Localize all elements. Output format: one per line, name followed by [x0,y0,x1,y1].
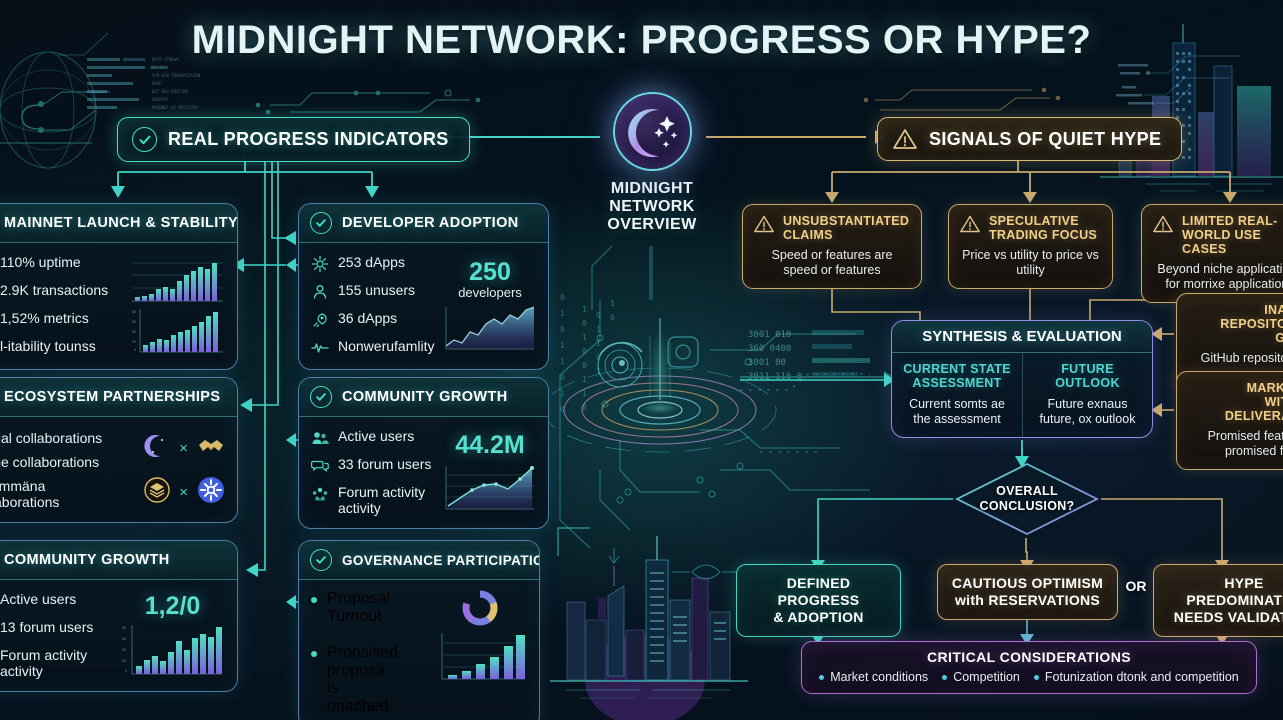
svg-text:1: 1 [582,375,587,384]
chat-icon [311,457,329,475]
metric-text: Pronsised proposa is onached [327,644,399,716]
conclusion-line-2: NEEDS VALIDATION [1166,609,1283,626]
svg-text:1: 1 [560,309,565,318]
metric-text: 2.9K transactions [0,282,108,298]
header-right-label: SIGNALS OF QUIET HYPE [929,129,1161,150]
card-description: Beyond niche applications for morrixe ap… [1152,262,1283,292]
bullet-icon [311,597,317,603]
conclusion-line-1: CAUTIOUS OPTIMISM [950,575,1105,592]
hype-card-marketing-without-deliverables[interactable]: MARKETING WITHOUT DELIVERABLES Promised … [1176,371,1283,470]
card-body: Actual collaborations Niche collaboratio… [0,417,237,522]
brand-line-2: NETWORK [592,198,712,216]
card-title: SPECULATIVE TRADING FOCUS [989,214,1102,242]
card-title: ECOSYSTEM PARTNERSHIPS [4,389,220,405]
card-header: ECOSYSTEM PARTNERSHIPS [0,378,237,417]
svg-text:1: 1 [560,341,565,350]
card-chart-block [432,590,527,716]
warning-triangle-icon [892,127,918,151]
decision-diamond-overall-conclusion[interactable]: OVERALL CONCLUSION? [955,462,1099,536]
person-icon [311,283,329,301]
svg-text:20: 20 [122,659,126,663]
card-chart-block: 250 developers [444,254,536,357]
users-icon [311,429,329,447]
svg-text:0: 0 [125,669,127,673]
partnership-logos: × × [144,430,225,510]
metric-text: Coommäna collaborations [0,478,77,510]
svg-text:1: 1 [596,325,601,334]
conclusion-line-2: & ADOPTION [749,609,888,626]
bullet-icon [942,675,947,680]
metric-text: Nonwerufamlity [338,338,434,354]
page-title: MIDNIGHT NETWORK: PROGRESS OR HYPE? [0,18,1283,63]
decision-label: OVERALL CONCLUSION? [955,462,1099,536]
brand-line-1: MIDNIGHT [592,180,712,198]
times-operator: × [179,484,188,501]
bar-chart-proposals [432,630,527,682]
metric-text: Forum activity activity [0,647,92,679]
binary-rain: 101 001 10 011 01 10 010 110 10 [560,293,615,414]
list-item: Competition [942,670,1020,684]
metric-row: Forum activity activity [311,484,436,516]
metric-row: 2.9K transactions [0,282,122,301]
warning-triangle-icon [1152,214,1174,234]
metric-text: Niche collaborations [0,454,99,470]
metric-text: Actual collaborations [0,430,102,446]
svg-text:MAINNET 01 REGISTRY: MAINNET 01 REGISTRY [152,105,198,110]
top-circuit-left [256,90,481,114]
card-body: Active users 33 forum users Forum activi… [299,417,548,528]
decision-line-2: CONCLUSION? [980,499,1075,514]
partnership-pair: × [144,433,225,464]
bullet-icon [311,651,317,657]
globe-decoration [0,52,110,168]
svg-text:1: 1 [582,333,587,342]
svg-text:1: 1 [582,389,587,398]
svg-text:0: 0 [582,319,587,328]
crescent-moon-stars-icon [613,92,692,171]
metric-text: Active users [0,591,76,607]
svg-text:0: 0 [596,353,601,362]
metric-text: 1,52% metrics [0,310,89,326]
metric-text: Active users [338,428,414,444]
bar-chart-uptime [130,258,225,302]
list-item-label: Competition [953,670,1020,684]
community-icon [311,485,329,503]
conclusion-line-1: HYPE PREDOMINATES [1166,575,1283,609]
hud-readout: 3001 010 360 0400 3001 00 3011 110 0 [740,330,892,382]
card-developer-adoption[interactable]: DEVELOPER ADOPTION 253 dApps 155 unusers [298,203,549,370]
metric-row: Forum activity activity [0,647,112,679]
synthesis-column-current-state: CURRENT STATE ASSESSMENT Current somts a… [892,353,1022,437]
card-chart-block: 44.2M [444,428,536,516]
hype-card-speculative-trading-focus[interactable]: SPECULATIVE TRADING FOCUS Price vs utili… [948,204,1113,289]
card-header: COMMUNITY GROWTH [299,378,548,417]
svg-text:0: 0 [560,325,565,334]
svg-text:1: 1 [560,357,565,366]
metric-row: Proposal Turnout [311,590,424,626]
conclusion-cautious-optimism[interactable]: CAUTIOUS OPTIMISM with RESERVATIONS [937,564,1118,620]
critical-title: CRITICAL CONSIDERATIONS [812,649,1246,665]
brand-block: MIDNIGHT NETWORK OVERVIEW [592,92,712,234]
card-community-growth-left[interactable]: COMMUNITY GROWTH Active users 13 forum u… [0,540,238,692]
card-body: 253 dApps 155 unusers 36 dApps [299,243,548,369]
metric-text: 110% uptime [0,254,81,270]
check-circle-icon [310,212,332,234]
card-title: UNSUBSTANTIATED CLAIMS [783,214,911,242]
metric-row: 33 forum users [311,456,436,475]
list-item: Fotunization dtonk and competition [1034,670,1239,684]
metric-row: Pronsised proposa is onached [311,644,424,716]
circuit-traces [560,246,870,548]
svg-text:3001 00: 3001 00 [748,358,786,368]
card-ecosystem-partnerships[interactable]: ECOSYSTEM PARTNERSHIPS Actual collaborat… [0,377,238,523]
card-mainnet-launch-stability[interactable]: MAINNET LAUNCH & STABILITY 110% uptime 2… [0,203,238,370]
metric-text: l-itability tounss [0,338,96,354]
card-header: DEVELOPER ADOPTION [299,204,548,243]
svg-text:80: 80 [122,626,126,630]
city-skyline-center [550,528,752,720]
central-hud [544,318,776,452]
svg-text:0: 0 [610,313,615,322]
header-left-label: REAL PROGRESS INDICATORS [168,129,449,150]
synthesis-body: CURRENT STATE ASSESSMENT Current somts a… [892,353,1152,437]
svg-text:NODE: NODE [152,81,162,86]
big-number: 1,2/0 [145,593,201,619]
svg-text:360 0400: 360 0400 [748,344,791,354]
svg-text:40: 40 [132,330,136,334]
svg-text:0: 0 [560,373,565,382]
infographic-canvas: DATA STREAM 01 10 SYN 010 TRANSMISSION N… [0,0,1283,720]
rocket-icon [311,311,329,329]
card-title: GOVERNANCE PARTICIPATION [342,553,540,568]
synthesis-column-future-outlook: FUTURE OUTLOOK Future exnaus future, ox … [1022,353,1152,437]
metric-text: 36 dApps [338,310,397,326]
card-body: 110% uptime 2.9K transactions 1,52% metr… [0,243,237,369]
svg-text:1: 1 [582,305,587,314]
synthesis-title: SYNTHESIS & EVALUATION [892,321,1152,353]
hype-card-limited-real-world-use-cases[interactable]: LIMITED REAL-WORLD USE CASES Beyond nich… [1141,204,1283,303]
metric-row: Coommäna collaborations [0,478,136,510]
top-circuit-right [864,88,1061,110]
card-title: LIMITED REAL-WORLD USE CASES [1182,214,1283,256]
metric-text: 253 dApps [338,254,405,270]
header-real-progress-indicators[interactable]: REAL PROGRESS INDICATORS [117,117,470,162]
crescent-moon-icon [144,433,170,464]
svg-text:1: 1 [596,367,601,376]
line-chart-community [444,462,536,512]
svg-text:60: 60 [132,320,136,324]
metric-text: Proposal Turnout [327,590,424,626]
conclusion-line-2: with RESERVATIONS [950,592,1105,609]
card-header: GOVERNANCE PARTICIPATION [299,541,539,580]
header-signals-of-quiet-hype[interactable]: SIGNALS OF QUIET HYPE [877,117,1182,161]
card-description: Promised features vs promised features [1187,429,1283,459]
bullet-icon [819,675,824,680]
area-chart-developers [444,304,536,352]
metric-row: Niche collaborations [0,454,136,470]
metric-text: 13 forum users [0,619,93,635]
column-heading: FUTURE OUTLOOK [1031,362,1144,390]
check-circle-icon [132,127,157,152]
pulse-icon [311,339,329,357]
big-number-label: developers [458,286,522,300]
card-body: Proposal Turnout Pronsised proposa is on… [299,580,539,720]
card-header: LIMITED REAL-WORLD USE CASES [1152,214,1283,256]
column-heading: CURRENT STATE ASSESSMENT [900,362,1014,390]
column-description: Future exnaus future, ox outlook [1031,397,1144,427]
card-header: SPECULATIVE TRADING FOCUS [959,214,1102,242]
handshake-icon [197,433,225,464]
card-charts: 806040200 [130,254,225,357]
metric-row: 36 dApps [311,310,436,329]
card-title: DEVELOPER ADOPTION [342,215,519,231]
hype-card-unsubstantiated-claims[interactable]: UNSUBSTANTIATED CLAIMS Speed or features… [742,204,922,289]
bar-chart-community: 806040200 [120,621,225,677]
gear-icon [311,255,329,273]
svg-text:ENCRYPT: ENCRYPT [152,97,169,102]
list-item-label: Fotunization dtonk and competition [1045,670,1239,684]
svg-text:BIT 034 ROUTING: BIT 034 ROUTING [152,89,189,94]
svg-text:0: 0 [596,311,601,320]
big-number: 44.2M [455,432,524,458]
svg-text:80: 80 [132,310,136,314]
card-chart-block: 1,2/0 806040200 [120,591,225,679]
svg-text:3011 110 0: 3011 110 0 [748,372,802,382]
metric-row: Actual collaborations [0,430,136,446]
warning-triangle-icon [959,214,981,234]
brand-line-3: OVERVIEW [592,216,712,234]
card-header: COMMUNITY GROWTH [0,541,237,580]
check-circle-icon [310,386,332,408]
metric-text: Forum activity activity [338,484,434,516]
card-header: MAINNET LAUNCH & STABILITY [0,204,237,243]
times-operator: × [179,440,188,457]
metric-text: 155 unusers [338,282,415,298]
check-circle-icon [310,549,332,571]
column-description: Current somts ae the assessment [900,397,1014,427]
critical-considerations-panel[interactable]: CRITICAL CONSIDERATIONS Market condition… [801,641,1257,694]
svg-text:0: 0 [134,348,136,352]
bullet-icon [1034,675,1039,680]
card-description: Price vs utility to price vs utility [959,248,1102,278]
card-header: UNSUBSTANTIATED CLAIMS [753,214,911,242]
metric-row: 110% uptime [0,254,122,273]
conclusion-defined-progress[interactable]: DEFINED PROGRESS & ADOPTION [736,564,901,637]
svg-text:0: 0 [582,361,587,370]
svg-text:40: 40 [122,648,126,652]
donut-chart-turnout [460,590,500,626]
synthesis-evaluation-panel[interactable]: SYNTHESIS & EVALUATION CURRENT STATE ASS… [891,320,1153,438]
warning-triangle-icon [753,214,775,234]
list-item: Market conditions [819,670,928,684]
card-title: COMMUNITY GROWTH [342,389,508,405]
metric-row: Active users [311,428,436,447]
conclusion-line-1: DEFINED PROGRESS [749,575,888,609]
svg-text:0: 0 [582,347,587,356]
svg-text:SYN 010 TRANSMISSION: SYN 010 TRANSMISSION [152,73,201,78]
svg-text:60: 60 [122,637,126,641]
right-data-lines [1116,56,1240,105]
conclusion-hype-predominates[interactable]: HYPE PREDOMINATES NEEDS VALIDATION [1153,564,1283,637]
card-governance-participation[interactable]: GOVERNANCE PARTICIPATION Proposal Turnou… [298,540,540,720]
blue-gear-icon [197,476,225,509]
svg-text:1: 1 [610,299,615,308]
card-body: Active users 13 forum users Forum activi… [0,580,237,691]
svg-text:0: 0 [560,293,565,302]
metric-row: Nonwerufamlity [311,338,436,357]
card-title: COMMUNITY GROWTH [4,552,170,568]
card-title: INACTIVE REPOSITORIES / GITHUB [1187,303,1283,345]
svg-text:20: 20 [132,340,136,344]
card-title: MARKETING WITHOUT DELIVERABLES [1187,381,1283,423]
metric-row: 1,52% metrics [0,310,122,329]
card-community-growth-middle[interactable]: COMMUNITY GROWTH Active users 33 forum u… [298,377,549,529]
critical-items: Market conditions Competition Fotunizati… [812,670,1246,684]
metric-row: l-itability tounss [0,338,122,357]
metric-row: Active users [0,591,112,610]
svg-text:0: 0 [560,405,565,414]
partnership-pair: × [144,476,225,509]
svg-text:1: 1 [596,339,601,348]
bar-chart-metrics: 806040200 [130,306,225,354]
svg-text:0: 0 [582,403,587,412]
or-separator-label: OR [1124,578,1148,594]
metric-row: 13 forum users [0,619,112,638]
decision-line-1: OVERALL [996,484,1058,499]
list-item-label: Market conditions [830,670,928,684]
svg-text:01 10: 01 10 [152,65,165,70]
svg-text:1: 1 [560,389,565,398]
brand-title: MIDNIGHT NETWORK OVERVIEW [592,180,712,234]
svg-text:3001 010: 3001 010 [748,330,791,340]
card-title: MAINNET LAUNCH & STABILITY [4,215,238,231]
card-description: Speed or features are speed or features [753,248,911,278]
metric-row: 253 dApps [311,254,436,273]
stacked-coin-icon [144,477,170,508]
big-number: 250 [469,259,511,285]
metric-row: 155 unusers [311,282,436,301]
metric-text: 33 forum users [338,456,431,472]
